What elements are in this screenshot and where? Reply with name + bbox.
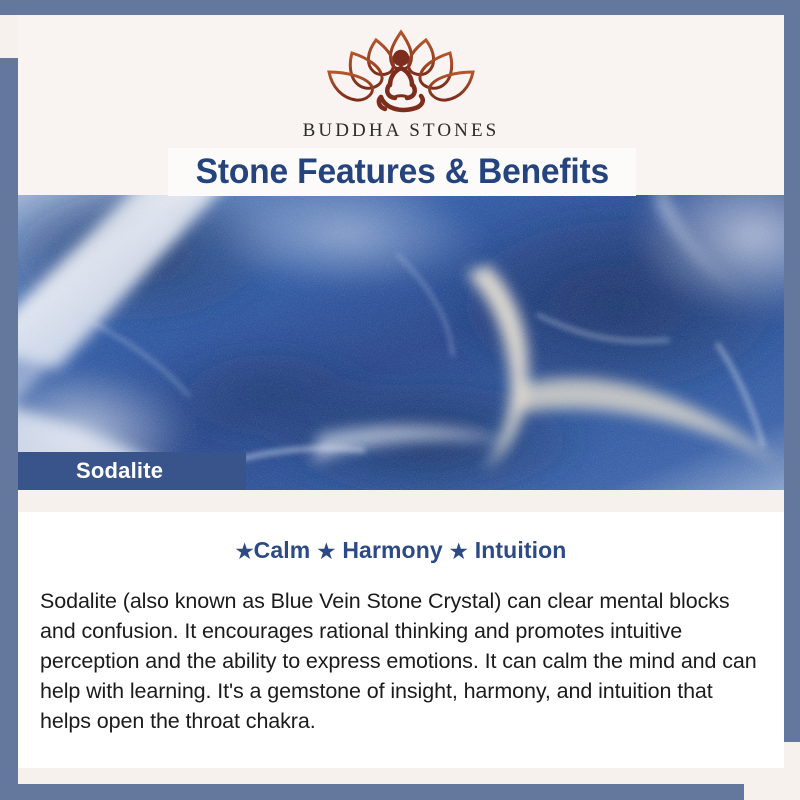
star-icon-1: ★ xyxy=(236,541,254,563)
frame-band-bottom xyxy=(0,784,744,800)
star-icon-3: ★ xyxy=(450,541,468,563)
inner-panel: BUDDHA STONES Stone Features & Benefits xyxy=(18,15,784,784)
frame-band-right xyxy=(784,0,800,742)
keyword-list: ★Calm★Harmony★Intuition xyxy=(18,537,784,564)
sodalite-texture-graphic xyxy=(18,195,784,490)
stone-name: Sodalite xyxy=(76,458,163,484)
frame-band-top xyxy=(0,0,800,15)
stone-photo xyxy=(18,195,784,490)
page-title: Stone Features & Benefits xyxy=(195,152,608,192)
keyword-harmony: Harmony xyxy=(342,537,442,563)
photo-bottom-strip xyxy=(18,490,784,512)
frame-band-left xyxy=(0,58,18,800)
brand-logo: BUDDHA STONES xyxy=(18,25,784,142)
infographic-page: BUDDHA STONES Stone Features & Benefits xyxy=(0,0,800,800)
stone-name-bar: Sodalite xyxy=(18,452,246,490)
brand-name: BUDDHA STONES xyxy=(303,120,500,142)
content-area: ★Calm★Harmony★Intuition Sodalite (also k… xyxy=(18,512,784,768)
lotus-meditation-figure-icon xyxy=(315,25,487,117)
keyword-intuition: Intuition xyxy=(475,537,567,563)
title-banner: Stone Features & Benefits xyxy=(168,148,636,196)
bottom-cream-strip xyxy=(18,768,784,784)
keyword-calm: Calm xyxy=(254,537,311,563)
stone-description: Sodalite (also known as Blue Vein Stone … xyxy=(40,586,762,736)
star-icon-2: ★ xyxy=(317,541,335,563)
